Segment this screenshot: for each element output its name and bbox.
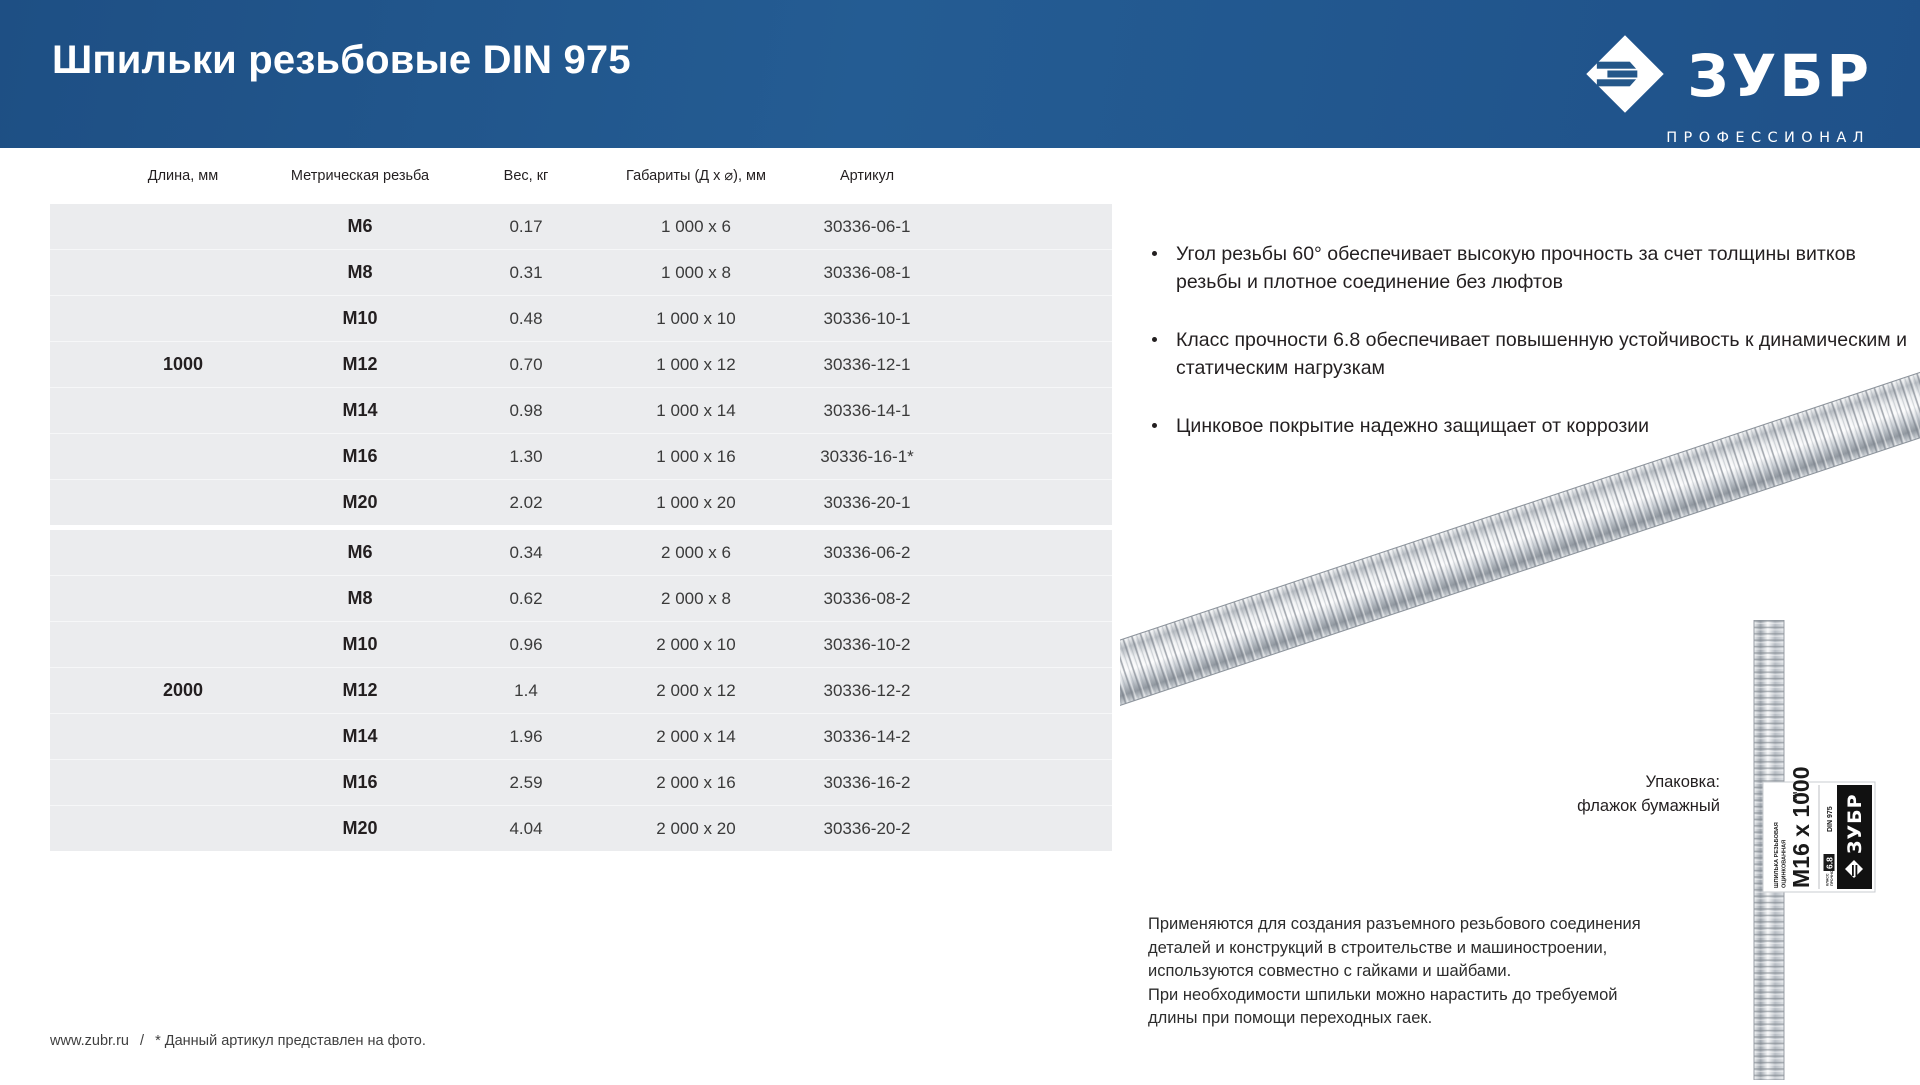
table-cell-num: 0.96	[509, 622, 542, 667]
table-row: M60.342 000 x 630336-06-2	[50, 530, 1112, 575]
table-row: M202.021 000 x 2030336-20-1	[50, 479, 1112, 525]
footer: www.zubr.ru / * Данный артикул представл…	[50, 1033, 426, 1049]
brand-name: ЗУБР	[1687, 49, 1872, 104]
table-cell-dims: 2 000 x 12	[656, 668, 735, 713]
description-line-1: деталей и конструкций в строительстве и …	[1148, 937, 1728, 961]
table-body: M60.171 000 x 630336-06-1M80.311 000 x 8…	[50, 204, 1112, 851]
table-cell-thread: M10	[342, 296, 377, 341]
table-row: M80.622 000 x 830336-08-2	[50, 575, 1112, 621]
description-line-4: длины при помощи переходных гаек.	[1148, 1007, 1728, 1031]
table-row: M100.962 000 x 1030336-10-2	[50, 621, 1112, 667]
table-group-length-label: 1000	[163, 204, 203, 525]
table-cell-art: 30336-16-2	[824, 760, 911, 805]
table-row: M161.301 000 x 1630336-16-1*	[50, 433, 1112, 479]
feature-bullet-0: Угол резьбы 60° обеспечивает высокую про…	[1148, 240, 1908, 296]
table-column-header-1: Метрическая резьба	[291, 168, 429, 184]
table-cell-dims: 1 000 x 20	[656, 480, 735, 525]
table-cell-dims: 1 000 x 6	[661, 204, 731, 249]
table-row: M120.701 000 x 1230336-12-1	[50, 341, 1112, 387]
product-description: Применяются для создания разъемного резь…	[1148, 913, 1728, 1031]
table-cell-dims: 2 000 x 6	[661, 530, 731, 575]
table-group-2000: M60.342 000 x 630336-06-2M80.622 000 x 8…	[50, 530, 1112, 851]
table-column-header-4: Артикул	[840, 168, 894, 184]
table-cell-dims: 2 000 x 10	[656, 622, 735, 667]
table-cell-thread: M16	[342, 434, 377, 479]
footer-separator: /	[140, 1033, 144, 1049]
packaging-caption-line2: флажок бумажный	[1420, 794, 1720, 818]
table-row: M60.171 000 x 630336-06-1	[50, 204, 1112, 249]
table-cell-thread: M6	[347, 204, 372, 249]
table-cell-dims: 1 000 x 16	[656, 434, 735, 479]
table-cell-dims: 2 000 x 16	[656, 760, 735, 805]
table-row: M140.981 000 x 1430336-14-1	[50, 387, 1112, 433]
table-cell-art: 30336-20-2	[824, 806, 911, 851]
description-line-3: При необходимости шпильки можно нарастит…	[1148, 984, 1728, 1008]
table-cell-thread: M14	[342, 714, 377, 759]
packaging-caption-line1: Упаковка:	[1420, 770, 1720, 794]
table-group-length-label: 2000	[163, 530, 203, 851]
table-cell-num: 1.30	[509, 434, 542, 479]
table-cell-thread: M14	[342, 388, 377, 433]
description-line-0: Применяются для создания разъемного резь…	[1148, 913, 1728, 937]
table-cell-art: 30336-08-1	[824, 250, 911, 295]
product-photo-packaged-rod-with-tag: ШПИЛЬКА РЕЗЬБОВАЯ ОЦИНКОВАННАЯ M16 x 100…	[1735, 620, 1905, 1080]
table-cell-art: 30336-10-2	[824, 622, 911, 667]
table-cell-dims: 2 000 x 20	[656, 806, 735, 851]
table-cell-art: 30336-14-2	[824, 714, 911, 759]
table-cell-num: 1.96	[509, 714, 542, 759]
table-cell-num: 0.17	[509, 204, 542, 249]
table-cell-num: 2.02	[509, 480, 542, 525]
table-cell-thread: M10	[342, 622, 377, 667]
svg-text:ОЦИНКОВАННАЯ: ОЦИНКОВАННАЯ	[1782, 840, 1788, 888]
svg-text:ШПИЛЬКА РЕЗЬБОВАЯ: ШПИЛЬКА РЕЗЬБОВАЯ	[1774, 822, 1780, 888]
table-cell-num: 0.31	[509, 250, 542, 295]
table-cell-thread: M8	[347, 250, 372, 295]
bullet-dot-icon	[1152, 251, 1157, 256]
table-cell-art: 30336-12-2	[824, 668, 911, 713]
table-cell-dims: 1 000 x 8	[661, 250, 731, 295]
table-cell-thread: M6	[347, 530, 372, 575]
table-cell-art: 30336-06-1	[824, 204, 911, 249]
table-cell-dims: 1 000 x 12	[656, 342, 735, 387]
footer-site-link[interactable]: www.zubr.ru	[50, 1033, 129, 1049]
table-cell-dims: 1 000 x 14	[656, 388, 735, 433]
table-cell-art: 30336-08-2	[824, 576, 911, 621]
table-cell-thread: M12	[342, 668, 377, 713]
table-row: M100.481 000 x 1030336-10-1	[50, 295, 1112, 341]
svg-text:мм: мм	[1792, 792, 1799, 802]
brand-tagline: ПРОФЕССИОНАЛ	[1666, 130, 1870, 146]
table-cell-thread: M12	[342, 342, 377, 387]
table-row: M121.42 000 x 1230336-12-2	[50, 667, 1112, 713]
table-column-header-3: Габариты (Д x ⌀), мм	[626, 168, 766, 184]
table-cell-num: 4.04	[509, 806, 542, 851]
svg-text:M16 x 1000: M16 x 1000	[1788, 767, 1814, 888]
table-header-row: Длина, ммМетрическая резьбаВес, кгГабари…	[50, 160, 1112, 204]
footer-note: * Данный артикул представлен на фото.	[155, 1033, 426, 1049]
page-header: Шпильки резьбовые DIN 975 ЗУБР ПРОФЕССИО…	[0, 0, 1920, 148]
table-cell-thread: M8	[347, 576, 372, 621]
table-row: M162.592 000 x 1630336-16-2	[50, 759, 1112, 805]
svg-text:6.8: 6.8	[1825, 857, 1835, 869]
table-cell-art: 30336-12-1	[824, 342, 911, 387]
table-cell-num: 0.62	[509, 576, 542, 621]
table-cell-art: 30336-06-2	[824, 530, 911, 575]
table-cell-art: 30336-20-1	[824, 480, 911, 525]
specifications-table: Длина, ммМетрическая резьбаВес, кгГабари…	[50, 160, 1112, 851]
table-cell-num: 0.98	[509, 388, 542, 433]
svg-text:ЗУБР: ЗУБР	[1844, 793, 1866, 854]
table-column-header-2: Вес, кг	[504, 168, 549, 184]
table-cell-dims: 2 000 x 8	[661, 576, 731, 621]
svg-text:DIN 975: DIN 975	[1827, 806, 1834, 832]
table-cell-art: 30336-10-1	[824, 296, 911, 341]
table-cell-thread: M16	[342, 760, 377, 805]
table-cell-num: 0.70	[509, 342, 542, 387]
table-row: M141.962 000 x 1430336-14-2	[50, 713, 1112, 759]
table-cell-dims: 2 000 x 14	[656, 714, 735, 759]
table-group-1000: M60.171 000 x 630336-06-1M80.311 000 x 8…	[50, 204, 1112, 525]
table-cell-art: 30336-16-1*	[820, 434, 914, 479]
table-cell-num: 2.59	[509, 760, 542, 805]
table-column-header-0: Длина, мм	[148, 168, 218, 184]
description-line-2: используются совместно с гайками и шайба…	[1148, 960, 1728, 984]
table-cell-art: 30336-14-1	[824, 388, 911, 433]
table-cell-thread: M20	[342, 480, 377, 525]
table-cell-thread: M20	[342, 806, 377, 851]
brand-logo: ЗУБР ПРОФЕССИОНАЛ	[1581, 30, 1872, 146]
table-cell-num: 0.34	[509, 530, 542, 575]
table-row: M80.311 000 x 830336-08-1	[50, 249, 1112, 295]
table-cell-num: 1.4	[514, 668, 538, 713]
zubr-arrow-diamond-icon	[1581, 30, 1669, 123]
page-title: Шпильки резьбовые DIN 975	[52, 38, 631, 83]
table-row: M204.042 000 x 2030336-20-2	[50, 805, 1112, 851]
table-cell-num: 0.48	[509, 296, 542, 341]
feature-bullet-text: Угол резьбы 60° обеспечивает высокую про…	[1176, 243, 1856, 293]
table-cell-dims: 1 000 x 10	[656, 296, 735, 341]
packaging-caption: Упаковка: флажок бумажный	[1420, 770, 1720, 818]
svg-text:КЛАСС: КЛАСС	[1826, 873, 1830, 886]
